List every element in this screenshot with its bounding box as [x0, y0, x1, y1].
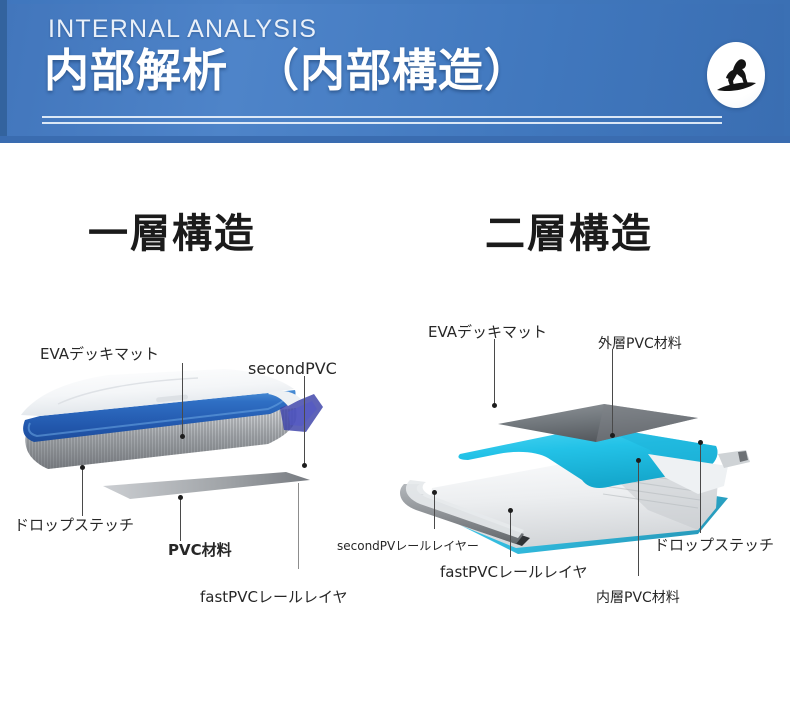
label-fast-pvc-rail-left: fastPVCレールレイヤ: [200, 586, 348, 607]
leader-line-second-pvc: [304, 376, 305, 465]
label-outer-pvc-material: 外層PVC材料: [598, 333, 682, 353]
leader-line-inner-pvc-material: [638, 461, 639, 576]
surfer-silhouette-icon: [713, 50, 759, 100]
leader-line-drop-stitch-right: [700, 443, 701, 533]
leader-line-eva-deck-mat-left: [182, 363, 183, 436]
leader-line-pvc-material: [180, 498, 181, 541]
leader-dot-eva-deck-mat-right: [492, 403, 497, 408]
page-title-main: 内部解析: [44, 45, 228, 96]
label-pvc-material: PVC材料: [168, 539, 232, 560]
label-eva-deck-mat-right: EVAデッキマット: [428, 321, 547, 342]
header-double-rule: [42, 116, 722, 125]
label-eva-deck-mat-left: EVAデッキマット: [40, 343, 159, 364]
main-content: 一層構造 二層構造: [0, 143, 790, 712]
leader-line-second-pv-rail-layer: [434, 493, 435, 529]
leader-dot-second-pv-rail-layer: [432, 490, 437, 495]
section-title-single-layer: 一層構造: [88, 201, 256, 259]
header-rule-bottom: [42, 122, 722, 124]
header-rule-top: [42, 116, 722, 118]
label-drop-stitch-left: ドロップステッチ: [14, 514, 134, 535]
label-inner-pvc-material: 内層PVC材料: [596, 587, 680, 607]
leader-dot-drop-stitch-left: [80, 465, 85, 470]
page-title-parenthetical: （内部構造）: [254, 45, 530, 96]
double-layer-board-illustration: [398, 358, 778, 558]
label-second-pvc: secondPVC: [248, 359, 337, 378]
label-second-pv-rail-layer: secondPVレールレイヤー: [337, 537, 479, 554]
leader-dot-eva-deck-mat-left: [180, 434, 185, 439]
leader-dot-inner-pvc-material: [636, 458, 641, 463]
leader-line-fast-pvc-rail-left: [298, 483, 299, 569]
leader-dot-second-pvc: [302, 463, 307, 468]
leader-dot-fast-pvc-rail-right: [508, 508, 513, 513]
leader-dot-drop-stitch-right: [698, 440, 703, 445]
brand-logo-badge: [707, 42, 765, 108]
page-header: INTERNAL ANALYSIS 内部解析（内部構造）: [0, 0, 790, 143]
header-eyebrow-text: INTERNAL ANALYSIS: [48, 15, 317, 44]
section-title-double-layer: 二層構造: [485, 201, 653, 259]
header-bottom-accent-strip: [0, 136, 790, 143]
leader-line-drop-stitch-left: [82, 468, 83, 516]
header-left-accent-strip: [0, 0, 7, 143]
leader-line-outer-pvc-material: [612, 349, 613, 435]
leader-line-eva-deck-mat-right: [494, 339, 495, 405]
leader-line-fast-pvc-rail-right: [510, 511, 511, 557]
page-title: 内部解析（内部構造）: [44, 48, 530, 93]
label-fast-pvc-rail-right: fastPVCレールレイヤ: [440, 561, 588, 582]
label-drop-stitch-right: ドロップステッチ: [654, 534, 774, 555]
leader-dot-outer-pvc-material: [610, 433, 615, 438]
leader-dot-pvc-material: [178, 495, 183, 500]
